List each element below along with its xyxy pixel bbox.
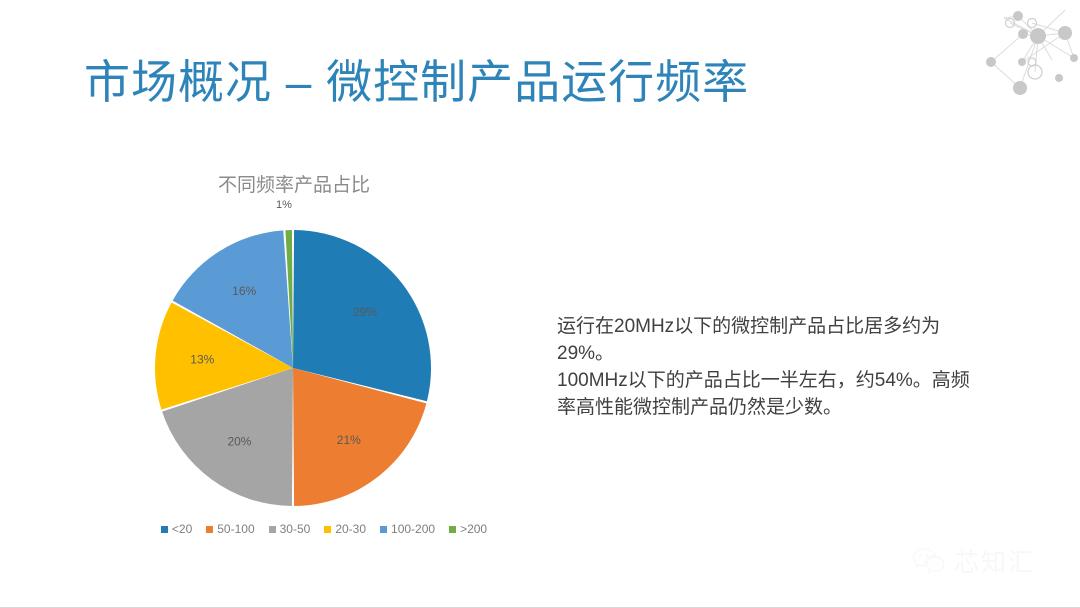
watermark-label: 芯知汇 bbox=[954, 543, 1035, 579]
legend-label: <20 bbox=[172, 522, 192, 536]
pie-slice-label: 1% bbox=[276, 199, 292, 211]
chart-title: 不同频率产品占比 bbox=[218, 170, 370, 197]
slide-canvas: 市场概况 – 微控制产品运行频率 不同频率产品占比 29%21%20%13%16… bbox=[0, 0, 1080, 608]
legend-swatch-icon bbox=[380, 526, 387, 533]
legend-swatch-icon bbox=[269, 526, 276, 533]
legend-label: 20-30 bbox=[335, 522, 366, 536]
legend-swatch-icon bbox=[449, 526, 456, 533]
pie-slice-group bbox=[155, 230, 431, 506]
pie-slice-label: 29% bbox=[353, 305, 377, 319]
body-paragraph: 运行在20MHz以下的微控制产品占比居多约为29%。 100MHz以下的产品占比… bbox=[557, 313, 997, 421]
legend-label: 100-200 bbox=[391, 522, 435, 536]
body-line-3: 率高性能微控制产品仍然是少数。 bbox=[557, 394, 997, 421]
legend-item[interactable]: 30-50 bbox=[269, 522, 311, 536]
wechat-icon bbox=[912, 547, 946, 575]
pie-slice-label: 20% bbox=[227, 435, 251, 449]
page-title: 市场概况 – 微控制产品运行频率 bbox=[84, 52, 749, 112]
legend-swatch-icon bbox=[324, 526, 331, 533]
legend-label: 30-50 bbox=[280, 522, 311, 536]
legend-label: 50-100 bbox=[217, 522, 254, 536]
body-line-2: 100MHz以下的产品占比一半左右，约54%。高频 bbox=[557, 367, 997, 394]
pie-svg: 29%21%20%13%16%1% bbox=[153, 228, 433, 508]
legend-item[interactable]: >200 bbox=[449, 522, 487, 536]
legend-item[interactable]: 50-100 bbox=[206, 522, 254, 536]
legend-item[interactable]: 100-200 bbox=[380, 522, 435, 536]
pie-slice-label: 13% bbox=[190, 352, 214, 366]
legend-label: >200 bbox=[460, 522, 487, 536]
pie-slice-label: 21% bbox=[337, 433, 361, 447]
watermark: 芯知汇 bbox=[912, 543, 1035, 579]
pie-chart-plot: 29%21%20%13%16%1% bbox=[153, 228, 433, 508]
node-network-graphic bbox=[960, 0, 1080, 112]
legend-swatch-icon bbox=[206, 526, 213, 533]
pie-chart: 不同频率产品占比 29%21%20%13%16%1% <2050-10030-5… bbox=[120, 160, 520, 550]
chart-legend: <2050-10030-5020-30100-200>200 bbox=[128, 522, 520, 536]
body-line-1: 运行在20MHz以下的微控制产品占比居多约为29%。 bbox=[557, 313, 997, 367]
legend-item[interactable]: 20-30 bbox=[324, 522, 366, 536]
pie-slice-label: 16% bbox=[232, 284, 256, 298]
legend-item[interactable]: <20 bbox=[161, 522, 192, 536]
legend-swatch-icon bbox=[161, 526, 168, 533]
